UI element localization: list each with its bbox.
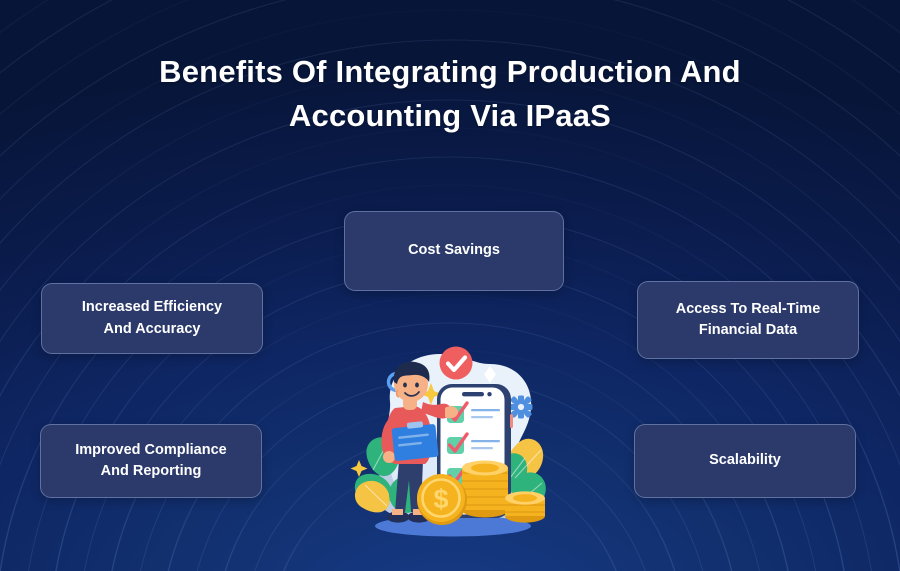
page-title-line-2: Accounting Via IPaaS <box>289 98 611 133</box>
benefit-card-increased-efficiency-line-2: And Accuracy <box>82 319 222 340</box>
benefit-card-improved-compliance-line-2: And Reporting <box>75 461 226 482</box>
page-title: Benefits Of Integrating Production And A… <box>0 50 900 138</box>
benefit-card-scalability[interactable]: Scalability <box>634 424 856 498</box>
infographic-canvas: Benefits Of Integrating Production And A… <box>0 0 900 571</box>
benefit-card-access-realtime-financial-data[interactable]: Access To Real-Time Financial Data <box>637 281 859 359</box>
check-badge-icon <box>440 347 473 380</box>
coin-stack-short <box>505 491 545 522</box>
benefit-card-increased-efficiency-line-1: Increased Efficiency <box>82 297 222 318</box>
svg-text:$: $ <box>433 484 448 514</box>
benefit-card-access-realtime-line-1: Access To Real-Time <box>676 299 821 320</box>
benefit-card-increased-efficiency[interactable]: Increased Efficiency And Accuracy <box>41 283 263 354</box>
page-title-line-1: Benefits Of Integrating Production And <box>159 54 741 89</box>
benefit-card-scalability-label: Scalability <box>709 450 781 471</box>
benefit-card-cost-savings-label: Cost Savings <box>408 240 500 261</box>
benefit-card-access-realtime-line-2: Financial Data <box>676 320 821 341</box>
coin-stack-tall <box>462 461 508 518</box>
gear-icon <box>510 396 533 419</box>
benefit-card-cost-savings[interactable]: Cost Savings <box>344 211 564 291</box>
benefit-card-improved-compliance-line-1: Improved Compliance <box>75 440 226 461</box>
benefit-card-improved-compliance[interactable]: Improved Compliance And Reporting <box>40 424 262 498</box>
central-illustration: $ <box>345 340 560 555</box>
